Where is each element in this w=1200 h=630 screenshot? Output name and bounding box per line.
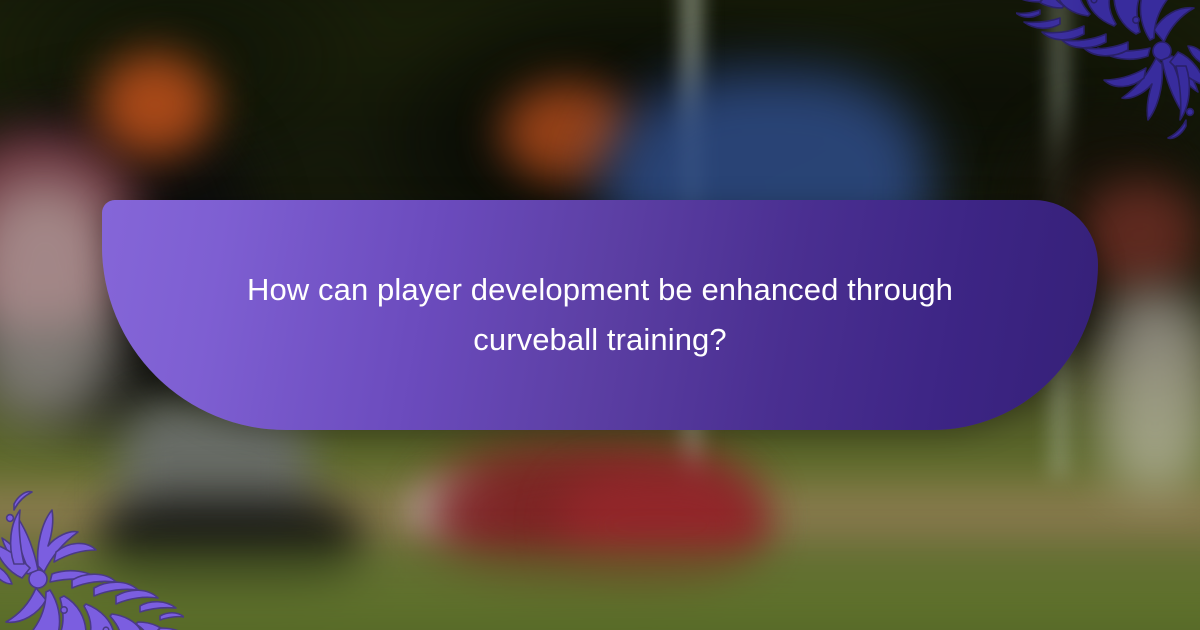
floral-corner-ornament-bottom-left	[0, 484, 184, 630]
quote-banner-inner: How can player development be enhanced t…	[196, 265, 1004, 365]
quote-card: How can player development be enhanced t…	[0, 0, 1200, 630]
background-figure-blur	[1100, 290, 1200, 490]
floral-corner-ornament-top-right	[1016, 0, 1200, 146]
background-figure-blur	[1080, 180, 1200, 290]
batting-helmet-blur	[95, 52, 215, 157]
quote-title: How can player development be enhanced t…	[220, 265, 980, 365]
quote-banner: How can player development be enhanced t…	[102, 200, 1098, 430]
